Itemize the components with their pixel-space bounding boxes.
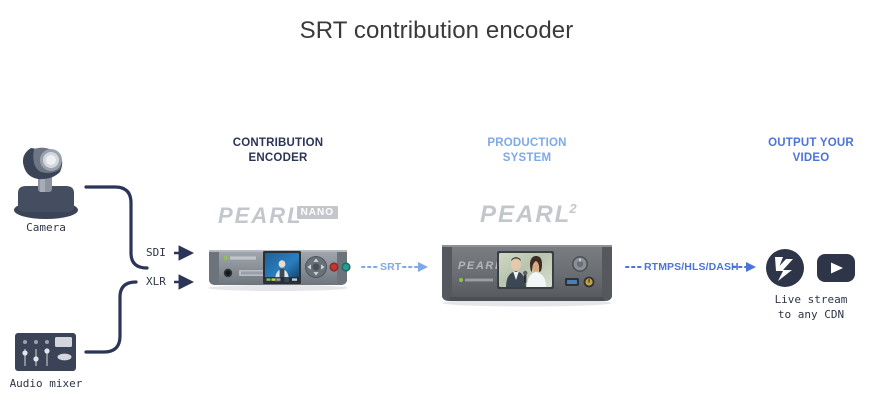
device-pearl-2: PEARL 2 bbox=[442, 245, 612, 307]
cable-xlr bbox=[86, 282, 136, 352]
pearl-nano-wordmark-badge: NANO bbox=[297, 206, 338, 219]
wowza-logo-icon bbox=[766, 249, 804, 287]
pearl-2-wordmark-superscript: 2 bbox=[569, 201, 578, 216]
pearl-2-wordmark: PEARL2 bbox=[480, 201, 581, 229]
label-audio-mixer: Audio mixer bbox=[0, 377, 92, 391]
ptz-camera-icon bbox=[14, 148, 78, 219]
diagram-canvas: PEARL 2 bbox=[0, 0, 873, 411]
flow-label-srt: SRT bbox=[380, 261, 401, 273]
audio-mixer-icon bbox=[15, 333, 76, 371]
flow-label-rtmps: RTMPS/HLS/DASH bbox=[644, 261, 739, 273]
svg-text:PEARL: PEARL bbox=[458, 260, 503, 272]
pearl-nano-wordmark: PEARLNANO bbox=[218, 203, 344, 229]
cable-sdi bbox=[86, 187, 147, 268]
pearl-2-usb-port bbox=[565, 278, 579, 286]
label-sdi: SDI bbox=[146, 246, 174, 260]
pearl-nano-wordmark-text: PEARL bbox=[218, 203, 303, 228]
label-xlr: XLR bbox=[146, 275, 174, 289]
label-live-stream-caption: Live stream to any CDN bbox=[746, 292, 873, 322]
pearl-nano-dpad bbox=[305, 256, 327, 278]
pearl-2-jog-knob bbox=[572, 256, 588, 272]
label-camera: Camera bbox=[0, 221, 92, 235]
device-pearl-nano bbox=[208, 250, 351, 291]
pearl-2-power-button bbox=[584, 277, 595, 288]
youtube-logo-icon bbox=[817, 254, 855, 282]
pearl-2-wordmark-text: PEARL bbox=[480, 201, 571, 228]
